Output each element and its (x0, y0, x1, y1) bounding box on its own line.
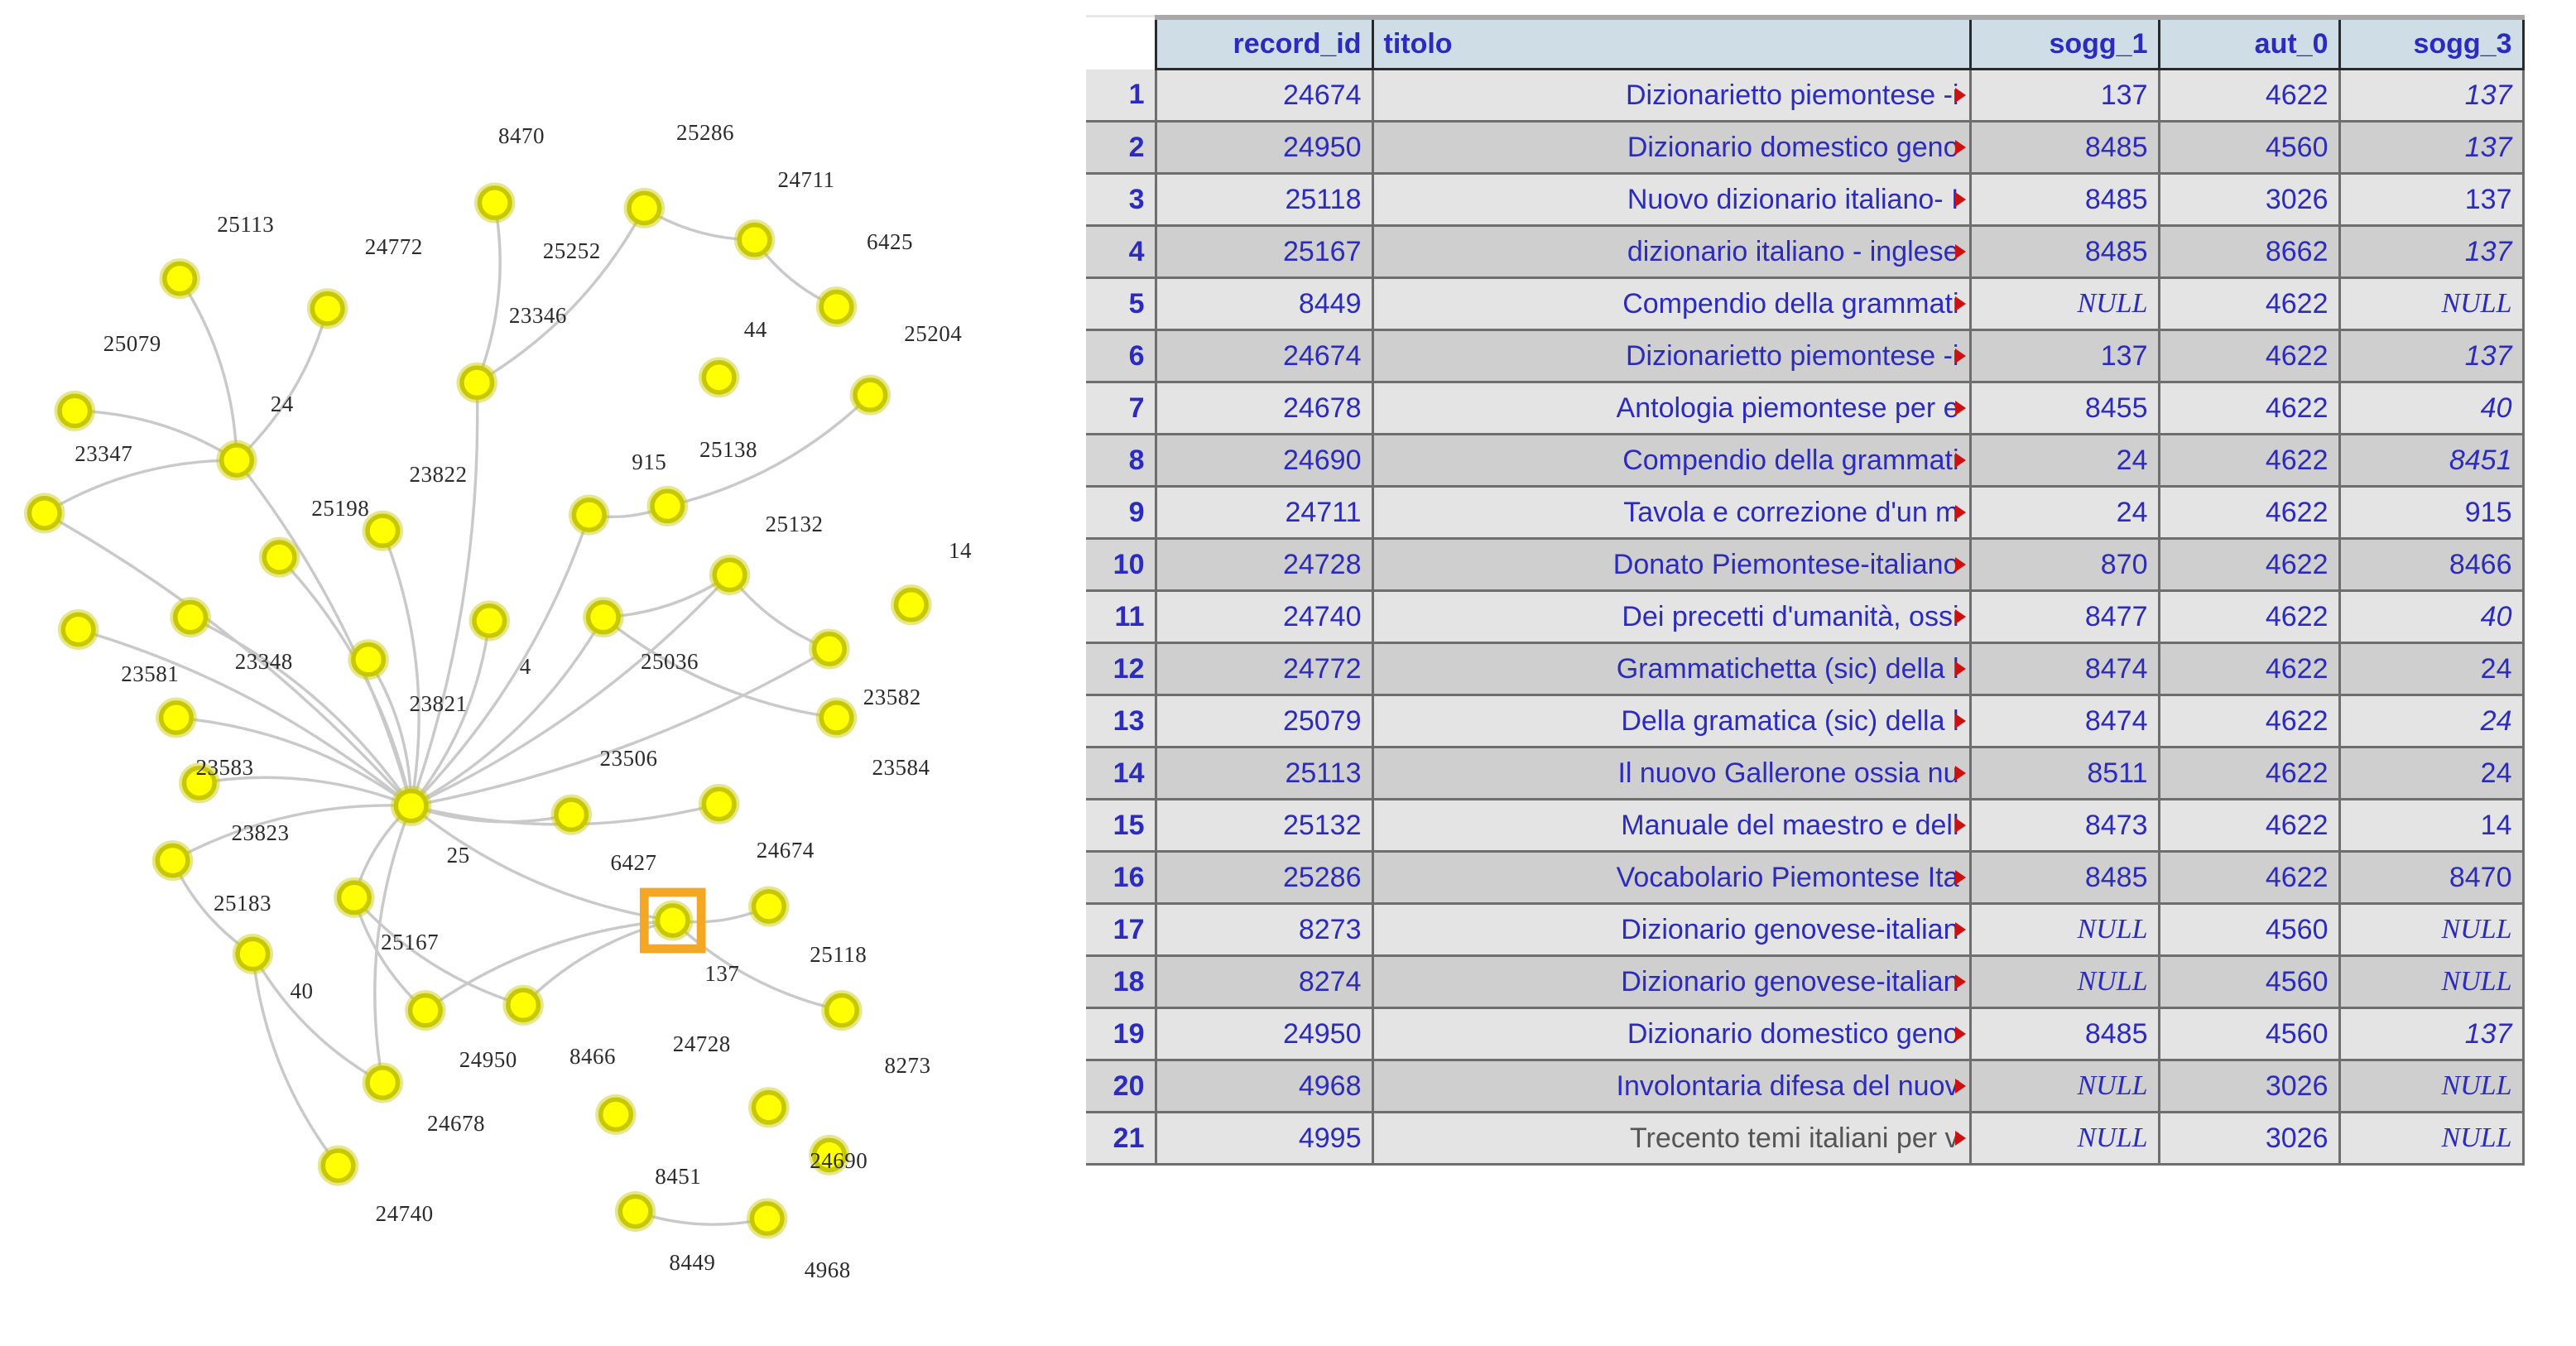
table-row[interactable]: 178273Dizionario genovese-italianNULL456… (1086, 904, 2523, 956)
aut-0-cell[interactable]: 4560 (2159, 956, 2339, 1008)
graph-node[interactable] (704, 789, 734, 819)
graph-node[interactable] (739, 225, 770, 255)
titolo-cell[interactable]: Dizionario genovese-italian (1372, 904, 1970, 956)
sogg-3-cell[interactable]: NULL (2339, 904, 2523, 956)
graph-node-label: 25113 (217, 212, 274, 238)
records-table[interactable]: record_id titolo sogg_1 aut_0 sogg_3 124… (1086, 15, 2525, 1166)
truncation-arrow-icon (1955, 296, 1966, 311)
table-row[interactable]: 58449Compendio della grammatiNULL4622NUL… (1086, 278, 2523, 330)
titolo-cell[interactable]: dizionario italiano - inglese (1372, 226, 1970, 278)
graph-node-label: 23821 (410, 691, 468, 717)
truncation-arrow-icon (1955, 661, 1966, 676)
graph-node[interactable] (821, 292, 852, 322)
graph-node-label: 23347 (74, 441, 132, 467)
graph-node-label: 44 (744, 317, 767, 343)
titolo-cell[interactable]: Compendio della grammati (1372, 278, 1970, 330)
table-row[interactable]: 624674Dizionarietto piemontese -i1374622… (1086, 330, 2523, 382)
record-id-cell[interactable]: 24772 (1156, 643, 1372, 695)
graph-node[interactable] (157, 845, 188, 875)
graph-node[interactable] (474, 606, 505, 636)
column-header-record-id[interactable]: record_id (1156, 17, 1372, 70)
graph-node-label: 25138 (699, 437, 757, 463)
titolo-cell[interactable]: Tavola e correzione d'un m (1372, 487, 1970, 539)
graph-edge (173, 805, 411, 861)
row-number-cell[interactable]: 3 (1086, 174, 1156, 226)
table-row[interactable]: 1525132Manuale del maestro e dell8473462… (1086, 800, 2523, 852)
titolo-cell[interactable]: Dizionario domestico geno (1372, 122, 1970, 174)
graph-node-label: 24690 (810, 1148, 867, 1174)
sogg-1-cell[interactable]: 8455 (1970, 382, 2159, 435)
graph-edge (280, 557, 411, 805)
graph-node-label: 14 (949, 538, 972, 564)
table-row[interactable]: 425167dizionario italiano - inglese84858… (1086, 226, 2523, 278)
row-number-cell[interactable]: 19 (1086, 1008, 1156, 1060)
graph-edge (237, 309, 328, 460)
graph-node[interactable] (574, 500, 604, 530)
sogg-3-cell[interactable]: 24 (2339, 695, 2523, 748)
sogg-1-cell[interactable]: 8485 (1970, 174, 2159, 226)
graph-node[interactable] (222, 445, 252, 475)
sogg-1-cell[interactable]: 8485 (1970, 226, 2159, 278)
truncation-arrow-icon (1955, 974, 1966, 989)
graph-node[interactable] (161, 703, 192, 733)
sogg-3-cell[interactable]: 915 (2339, 487, 2523, 539)
graph-node-label: 8273 (885, 1053, 931, 1079)
graph-node-label: 25286 (676, 120, 734, 146)
titolo-text: Dizionario genovese-italian (1621, 966, 1958, 998)
graph-node[interactable] (411, 996, 441, 1026)
graph-edge (411, 515, 589, 805)
row-number-cell[interactable]: 14 (1086, 748, 1156, 800)
table-row[interactable]: 1224772Grammatichetta (sic) della l84744… (1086, 643, 2523, 695)
graph-node-label: 4968 (805, 1257, 851, 1283)
record-id-cell[interactable]: 8273 (1156, 904, 1372, 956)
sogg-3-cell[interactable]: 137 (2339, 330, 2523, 382)
titolo-cell[interactable]: Antologia piemontese per e (1372, 382, 1970, 435)
titolo-text: Della gramatica (sic) della l (1621, 705, 1958, 738)
sogg-1-cell[interactable]: 137 (1970, 70, 2159, 122)
titolo-text: Manuale del maestro e dell (1621, 810, 1958, 842)
table-row[interactable]: 724678Antologia piemontese per e84554622… (1086, 382, 2523, 435)
graph-edge (477, 208, 644, 382)
row-number-cell[interactable]: 17 (1086, 904, 1156, 956)
sogg-1-cell[interactable]: NULL (1970, 956, 2159, 1008)
sogg-3-cell[interactable]: 24 (2339, 748, 2523, 800)
record-id-cell[interactable]: 24690 (1156, 435, 1372, 487)
row-number-cell[interactable]: 5 (1086, 278, 1156, 330)
truncation-arrow-icon (1955, 1079, 1966, 1094)
graph-node[interactable] (238, 939, 268, 969)
titolo-text: Compendio della grammati (1622, 445, 1958, 477)
graph-node[interactable] (353, 645, 384, 675)
graph-edge (477, 203, 500, 382)
table-row[interactable]: 325118Nuovo dizionario italiano- I848530… (1086, 174, 2523, 226)
graph-edge (411, 574, 730, 805)
graph-node-label: 24711 (778, 167, 835, 193)
row-number-cell[interactable]: 6 (1086, 330, 1156, 382)
truncation-arrow-icon (1955, 505, 1966, 520)
header-corner[interactable] (1086, 17, 1156, 70)
graph-node-label: 915 (632, 449, 666, 475)
graph-node-label: 24772 (365, 234, 423, 260)
row-number-cell[interactable]: 9 (1086, 487, 1156, 539)
aut-0-cell[interactable]: 4622 (2159, 330, 2339, 382)
sogg-3-cell[interactable]: 8466 (2339, 539, 2523, 591)
record-id-cell[interactable]: 4968 (1156, 1060, 1372, 1113)
graph-node[interactable] (508, 990, 539, 1020)
graph-node-label: 25204 (904, 321, 962, 347)
titolo-text: Dizionario genovese-italian (1621, 914, 1958, 946)
sogg-3-cell[interactable]: 8470 (2339, 852, 2523, 904)
truncation-arrow-icon (1955, 453, 1966, 468)
graph-node[interactable] (601, 1099, 632, 1129)
sogg-1-cell[interactable]: NULL (1970, 1113, 2159, 1165)
sogg-3-cell[interactable]: 40 (2339, 591, 2523, 643)
graph-node-label: 23582 (863, 685, 921, 710)
row-number-cell[interactable]: 21 (1086, 1113, 1156, 1165)
record-id-cell[interactable]: 24674 (1156, 330, 1372, 382)
row-number-cell[interactable]: 8 (1086, 435, 1156, 487)
titolo-text: Involontaria difesa del nuov (1617, 1070, 1959, 1103)
row-number-cell[interactable]: 18 (1086, 956, 1156, 1008)
graph-node[interactable] (29, 498, 60, 528)
graph-node-label: 24740 (376, 1201, 434, 1227)
graph-node[interactable] (60, 396, 90, 425)
titolo-cell[interactable]: Grammatichetta (sic) della l (1372, 643, 1970, 695)
graph-edge (411, 649, 829, 806)
graph-node[interactable] (368, 516, 398, 546)
titolo-cell[interactable]: Vocabolario Piemontese Ita (1372, 852, 1970, 904)
truncation-arrow-icon (1955, 192, 1966, 207)
sogg-3-cell[interactable]: 40 (2339, 382, 2523, 435)
aut-0-cell[interactable]: 4560 (2159, 1008, 2339, 1060)
graph-node-label: 8451 (655, 1164, 701, 1190)
sogg-3-cell[interactable]: 137 (2339, 1008, 2523, 1060)
titolo-cell[interactable]: Donato Piemontese-italiano (1372, 539, 1970, 591)
aut-0-cell[interactable]: 4622 (2159, 643, 2339, 695)
aut-0-cell[interactable]: 4622 (2159, 591, 2339, 643)
titolo-text: Dei precetti d'umanità, ossi (1622, 601, 1958, 633)
sogg-1-cell[interactable]: 8511 (1970, 748, 2159, 800)
truncation-arrow-icon (1955, 244, 1966, 259)
sogg-3-cell[interactable]: 137 (2339, 122, 2523, 174)
truncation-arrow-icon (1955, 557, 1966, 572)
graph-node-label: 8470 (498, 123, 545, 149)
graph-node-label: 23823 (232, 820, 290, 846)
sogg-1-cell[interactable]: 24 (1970, 487, 2159, 539)
table-row[interactable]: 224950Dizionario domestico geno848545601… (1086, 122, 2523, 174)
graph-node-label: 25132 (766, 512, 824, 537)
table-row[interactable]: 1924950Dizionario domestico geno84854560… (1086, 1008, 2523, 1060)
sogg-3-cell[interactable]: 137 (2339, 70, 2523, 122)
record-id-cell[interactable]: 25132 (1156, 800, 1372, 852)
sogg-1-cell[interactable]: 8485 (1970, 852, 2159, 904)
graph-node[interactable] (175, 602, 206, 632)
graph-node-label: 8466 (570, 1044, 616, 1070)
row-number-cell[interactable]: 20 (1086, 1060, 1156, 1113)
record-id-cell[interactable]: 24674 (1156, 70, 1372, 122)
graph-node[interactable] (165, 263, 195, 293)
record-id-cell[interactable]: 8274 (1156, 956, 1372, 1008)
table-row[interactable]: 214995Trecento temi italiani per vNULL30… (1086, 1113, 2523, 1165)
graph-node[interactable] (704, 363, 734, 392)
titolo-cell[interactable]: Dei precetti d'umanità, ossi (1372, 591, 1970, 643)
aut-0-cell[interactable]: 3026 (2159, 174, 2339, 226)
graph-node[interactable] (657, 906, 688, 935)
graph-node-label: 25118 (810, 942, 867, 968)
table-row[interactable]: 1625286Vocabolario Piemontese Ita8485462… (1086, 852, 2523, 904)
truncation-arrow-icon (1955, 609, 1966, 624)
aut-0-cell[interactable]: 8662 (2159, 226, 2339, 278)
table-row[interactable]: 124674Dizionarietto piemontese -i1374622… (1086, 70, 2523, 122)
sogg-1-cell[interactable]: 137 (1970, 330, 2159, 382)
graph-node-label: 137 (704, 961, 739, 987)
graph-edge (252, 954, 382, 1083)
truncation-arrow-icon (1955, 870, 1966, 885)
sogg-1-cell[interactable]: 8473 (1970, 800, 2159, 852)
titolo-cell[interactable]: Dizionario domestico geno (1372, 1008, 1970, 1060)
aut-0-cell[interactable]: 4622 (2159, 539, 2339, 591)
sogg-3-cell[interactable]: 137 (2339, 226, 2523, 278)
graph-node[interactable] (714, 560, 745, 589)
record-id-cell[interactable]: 24678 (1156, 382, 1372, 435)
row-number-cell[interactable]: 13 (1086, 695, 1156, 748)
record-id-cell[interactable]: 25286 (1156, 852, 1372, 904)
row-number-cell[interactable]: 10 (1086, 539, 1156, 591)
graph-node-label: 25252 (543, 238, 601, 264)
record-id-cell[interactable]: 25118 (1156, 174, 1372, 226)
row-number-cell[interactable]: 4 (1086, 226, 1156, 278)
sogg-3-cell[interactable]: NULL (2339, 278, 2523, 330)
titolo-text: dizionario italiano - inglese (1627, 236, 1959, 268)
titolo-cell[interactable]: Dizionarietto piemontese -i (1372, 330, 1970, 382)
record-id-cell[interactable]: 4995 (1156, 1113, 1372, 1165)
graph-node-label: 25079 (103, 331, 161, 357)
graph-node[interactable] (589, 602, 619, 632)
sogg-1-cell[interactable]: 8485 (1970, 122, 2159, 174)
aut-0-cell[interactable]: 4622 (2159, 487, 2339, 539)
table-row[interactable]: 1325079Della gramatica (sic) della l8474… (1086, 695, 2523, 748)
row-number-cell[interactable]: 1 (1086, 70, 1156, 122)
graph-node[interactable] (479, 188, 510, 218)
graph-node[interactable] (827, 996, 858, 1026)
sogg-3-cell[interactable]: 24 (2339, 643, 2523, 695)
truncation-arrow-icon (1955, 88, 1966, 103)
column-header-sogg-1[interactable]: sogg_1 (1970, 17, 2159, 70)
row-number-cell[interactable]: 15 (1086, 800, 1156, 852)
graph-node-label: 6425 (867, 229, 913, 255)
table-row[interactable]: 1124740Dei precetti d'umanità, ossi84774… (1086, 591, 2523, 643)
graph-node-label: 23581 (121, 661, 179, 687)
table-row[interactable]: 1425113Il nuovo Gallerone ossia nu851146… (1086, 748, 2523, 800)
titolo-text: Compendio della grammati (1622, 288, 1958, 320)
table-header: record_id titolo sogg_1 aut_0 sogg_3 (1086, 17, 2523, 70)
titolo-cell[interactable]: Dizionario genovese-italian (1372, 956, 1970, 1008)
aut-0-cell[interactable]: 4622 (2159, 695, 2339, 748)
titolo-cell[interactable]: Il nuovo Gallerone ossia nu (1372, 748, 1970, 800)
table-row[interactable]: 188274Dizionario genovese-italianNULL456… (1086, 956, 2523, 1008)
truncation-arrow-icon (1955, 349, 1966, 363)
graph-node[interactable] (396, 791, 426, 820)
sogg-1-cell[interactable]: 8477 (1970, 591, 2159, 643)
titolo-cell[interactable]: Compendio della grammati (1372, 435, 1970, 487)
aut-0-cell[interactable]: 4622 (2159, 748, 2339, 800)
graph-node[interactable] (264, 542, 295, 572)
titolo-text: Trecento temi italiani per v (1630, 1122, 1958, 1155)
truncation-arrow-icon (1955, 1026, 1966, 1041)
titolo-text: Dizionario domestico geno (1627, 132, 1959, 164)
graph-node-label: 8449 (669, 1250, 715, 1276)
table-body[interactable]: 124674Dizionarietto piemontese -i1374622… (1086, 70, 2523, 1165)
graph-node[interactable] (323, 1151, 353, 1180)
column-header-aut-0[interactable]: aut_0 (2159, 17, 2339, 70)
graph-node-label: 24 (271, 392, 294, 417)
graph-node[interactable] (752, 1204, 782, 1233)
graph-node-label: 24728 (673, 1031, 731, 1057)
graph-node-label: 40 (290, 978, 313, 1004)
graph-edge (425, 921, 673, 1011)
graph-node-label: 23506 (600, 746, 658, 772)
graph-node-label: 25167 (381, 930, 439, 955)
graph-node[interactable] (754, 1093, 785, 1122)
aut-0-cell[interactable]: 4622 (2159, 852, 2339, 904)
graph-node[interactable] (63, 614, 94, 644)
record-id-cell[interactable]: 24711 (1156, 487, 1372, 539)
record-id-cell[interactable]: 25167 (1156, 226, 1372, 278)
graph-edge (45, 460, 237, 513)
graph-node[interactable] (556, 800, 587, 829)
graph-node[interactable] (855, 380, 886, 410)
graph-node-label: 4 (520, 654, 531, 680)
titolo-text: Grammatichetta (sic) della l (1617, 653, 1959, 685)
row-number-cell[interactable]: 11 (1086, 591, 1156, 643)
titolo-text: Tavola e correzione d'un m (1623, 497, 1958, 529)
graph-edge (667, 395, 870, 506)
graph-node[interactable] (462, 368, 493, 397)
data-grid-panel[interactable]: record_id titolo sogg_1 aut_0 sogg_3 124… (1068, 0, 2576, 1340)
graph-node-label: 23348 (235, 649, 293, 675)
sogg-1-cell[interactable]: 8474 (1970, 695, 2159, 748)
graph-node-label: 23346 (509, 303, 567, 329)
sogg-3-cell[interactable]: 137 (2339, 174, 2523, 226)
aut-0-cell[interactable]: 4560 (2159, 904, 2339, 956)
graph-edge (180, 279, 237, 460)
column-header-titolo[interactable]: titolo (1372, 17, 1970, 70)
graph-node-label: 25 (447, 843, 470, 868)
truncation-arrow-icon (1955, 922, 1966, 937)
graph-node[interactable] (312, 294, 343, 324)
sogg-1-cell[interactable]: NULL (1970, 278, 2159, 330)
sogg-1-cell[interactable]: NULL (1970, 904, 2159, 956)
graph-node[interactable] (629, 193, 660, 223)
sogg-1-cell[interactable]: 8485 (1970, 1008, 2159, 1060)
table-row[interactable]: 204968Involontaria difesa del nuovNULL30… (1086, 1060, 2523, 1113)
sogg-1-cell[interactable]: NULL (1970, 1060, 2159, 1113)
graph-node[interactable] (652, 491, 683, 521)
aut-0-cell[interactable]: 3026 (2159, 1060, 2339, 1113)
sogg-3-cell[interactable]: 14 (2339, 800, 2523, 852)
graph-node-label: 23822 (410, 462, 468, 488)
truncation-arrow-icon (1955, 766, 1966, 781)
network-graph-panel[interactable]: 8470252862471125113247722525264252334644… (0, 0, 1068, 1340)
record-id-cell[interactable]: 25113 (1156, 748, 1372, 800)
graph-node-label: 25036 (641, 649, 699, 675)
graph-node-label: 24950 (459, 1047, 517, 1073)
graph-node-label: 24678 (427, 1111, 485, 1137)
titolo-cell[interactable]: Nuovo dizionario italiano- I (1372, 174, 1970, 226)
titolo-cell[interactable]: Trecento temi italiani per v (1372, 1113, 1970, 1165)
record-id-cell[interactable]: 24728 (1156, 539, 1372, 591)
graph-node-label: 23583 (196, 755, 254, 781)
table-row[interactable]: 924711Tavola e correzione d'un m24462291… (1086, 487, 2523, 539)
record-id-cell[interactable]: 25079 (1156, 695, 1372, 748)
grid-bottom-clip (1068, 1321, 2576, 1346)
row-number-cell[interactable]: 12 (1086, 643, 1156, 695)
titolo-text: Vocabolario Piemontese Ita (1617, 862, 1959, 894)
graph-node-label: 24674 (757, 838, 815, 863)
aut-0-cell[interactable]: 4622 (2159, 382, 2339, 435)
graph-node-label: 25198 (311, 496, 369, 522)
titolo-cell[interactable]: Involontaria difesa del nuov (1372, 1060, 1970, 1113)
graph-node[interactable] (754, 892, 785, 921)
aut-0-cell[interactable]: 4622 (2159, 278, 2339, 330)
row-number-cell[interactable]: 7 (1086, 382, 1156, 435)
graph-node[interactable] (368, 1068, 398, 1098)
graph-node[interactable] (821, 703, 852, 733)
truncation-arrow-icon (1955, 140, 1966, 155)
sogg-3-cell[interactable]: NULL (2339, 1060, 2523, 1113)
graph-node[interactable] (815, 634, 845, 664)
record-id-cell[interactable]: 24950 (1156, 1008, 1372, 1060)
truncation-arrow-icon (1955, 1131, 1966, 1146)
sogg-1-cell[interactable]: 870 (1970, 539, 2159, 591)
row-number-cell[interactable]: 16 (1086, 852, 1156, 904)
titolo-cell[interactable]: Dizionarietto piemontese -i (1372, 70, 1970, 122)
graph-node[interactable] (896, 590, 927, 620)
graph-node[interactable] (620, 1196, 651, 1226)
graph-node[interactable] (339, 882, 370, 912)
aut-0-cell[interactable]: 4622 (2159, 800, 2339, 852)
column-header-sogg-3[interactable]: sogg_3 (2339, 17, 2523, 70)
titolo-cell[interactable]: Della gramatica (sic) della l (1372, 695, 1970, 748)
graph-node-label: 6427 (610, 850, 656, 876)
titolo-text: Dizionarietto piemontese -i (1626, 79, 1959, 112)
sogg-1-cell[interactable]: 8474 (1970, 643, 2159, 695)
truncation-arrow-icon (1955, 401, 1966, 416)
aut-0-cell[interactable]: 4622 (2159, 70, 2339, 122)
aut-0-cell[interactable]: 4560 (2159, 122, 2339, 174)
sogg-3-cell[interactable]: 8451 (2339, 435, 2523, 487)
header-row: record_id titolo sogg_1 aut_0 sogg_3 (1086, 17, 2523, 70)
row-number-cell[interactable]: 2 (1086, 122, 1156, 174)
sogg-1-cell[interactable]: 24 (1970, 435, 2159, 487)
sogg-3-cell[interactable]: NULL (2339, 956, 2523, 1008)
titolo-cell[interactable]: Manuale del maestro e dell (1372, 800, 1970, 852)
table-row[interactable]: 824690Compendio della grammati2446228451 (1086, 435, 2523, 487)
titolo-text: Dizionario domestico geno (1627, 1018, 1959, 1050)
sogg-3-cell[interactable]: NULL (2339, 1113, 2523, 1165)
record-id-cell[interactable]: 24740 (1156, 591, 1372, 643)
aut-0-cell[interactable]: 4622 (2159, 435, 2339, 487)
record-id-cell[interactable]: 8449 (1156, 278, 1372, 330)
titolo-text: Donato Piemontese-italiano (1613, 549, 1959, 581)
graph-node-label: 25183 (214, 891, 272, 916)
table-row[interactable]: 1024728Donato Piemontese-italiano8704622… (1086, 539, 2523, 591)
record-id-cell[interactable]: 24950 (1156, 122, 1372, 174)
aut-0-cell[interactable]: 3026 (2159, 1113, 2339, 1165)
graph-node-label: 23584 (872, 755, 930, 781)
titolo-text: Il nuovo Gallerone ossia nu (1617, 757, 1958, 790)
